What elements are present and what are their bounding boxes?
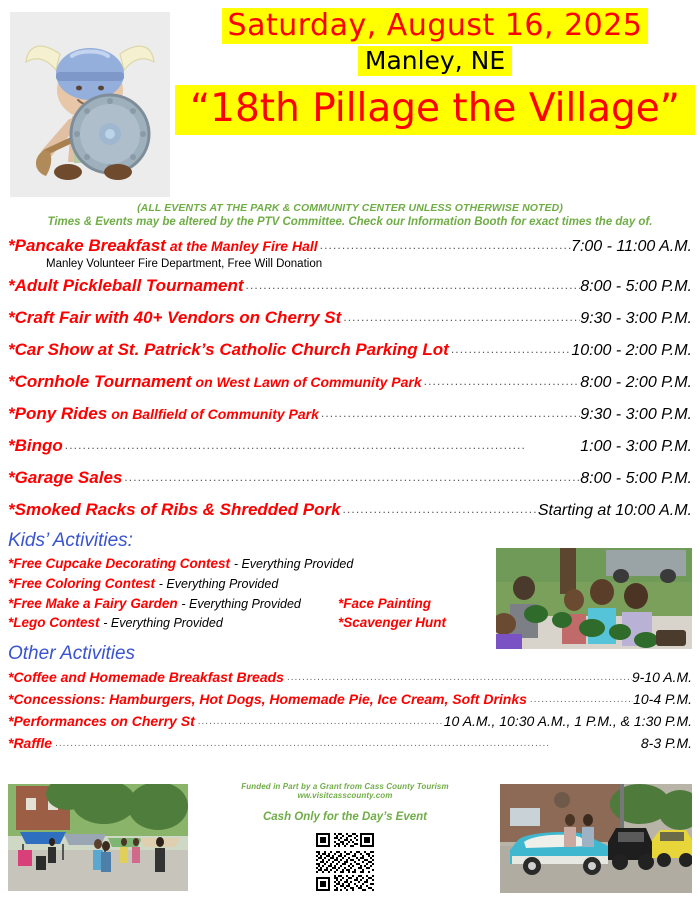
event-row: *Pancake Breakfast at the Manley Fire Ha… <box>8 236 692 256</box>
viking-mascot-icon <box>10 12 170 197</box>
leader-dots: ........................................… <box>341 310 580 324</box>
kids-fairy-garden-photo <box>496 548 692 649</box>
kids-activity-item: *Free Make a Fairy Garden - Everything P… <box>8 594 478 614</box>
leader-dots: ........................................… <box>52 738 641 749</box>
grant-credit: Funded in Part by a Grant from Cass Coun… <box>195 782 495 800</box>
event-time: 9:30 - 3:00 P.M. <box>580 310 692 328</box>
car-show-photo <box>500 784 692 893</box>
kids-photo-image <box>496 548 692 649</box>
other-activity-row: *Performances on Cherry St .............… <box>8 713 692 729</box>
other-activity-row: *Coffee and Homemade Breakfast Breads ..… <box>8 669 692 685</box>
event-time: Starting at 10:00 A.M. <box>538 502 692 520</box>
leader-dots: ........................................… <box>319 406 580 420</box>
event-qualifier: on West Lawn of Community Park <box>192 374 422 390</box>
cash-only-notice: Cash Only for the Day’s Event <box>195 811 495 823</box>
kids-activity-name: *Face Painting <box>338 594 478 614</box>
qr-code[interactable] <box>314 831 376 893</box>
kids-activities-section: *Free Cupcake Decorating Contest - Every… <box>8 554 692 633</box>
kids-activity-name: *Lego Contest <box>8 615 100 630</box>
event-name: *Car Show at St. Patrick’s Catholic Chur… <box>8 340 449 360</box>
event-name: *Craft Fair with 40+ Vendors on Cherry S… <box>8 308 341 328</box>
event-date: Saturday, August 16, 2025 <box>222 8 649 44</box>
event-name: *Pancake Breakfast <box>8 236 166 256</box>
event-time: 8:00 - 5:00 P.M. <box>580 278 692 296</box>
event-list: *Pancake Breakfast at the Manley Fire Ha… <box>8 236 692 520</box>
event-row: *Cornhole Tournament on West Lawn of Com… <box>8 372 692 392</box>
flyer-footer: Funded in Part by a Grant from Cass Coun… <box>0 780 700 906</box>
kids-activities-list: *Free Cupcake Decorating Contest - Every… <box>8 554 478 633</box>
event-time: 8:00 - 2:00 P.M. <box>580 374 692 392</box>
event-name: *Smoked Racks of Ribs & Shredded Pork <box>8 500 341 520</box>
event-time: 9:30 - 3:00 P.M. <box>580 406 692 424</box>
other-activity-time: 10 A.M., 10:30 A.M., 1 P.M., & 1:30 P.M. <box>444 713 692 729</box>
event-row: *Adult Pickleball Tournament ...........… <box>8 276 692 296</box>
viking-mascot-image <box>10 12 170 197</box>
event-row: *Bingo .................................… <box>8 436 692 456</box>
kids-activity-detail: - Everything Provided <box>234 557 354 571</box>
leader-dots: ........................................… <box>318 238 571 252</box>
event-time: 1:00 - 3:00 P.M. <box>580 438 692 456</box>
leader-dots: ........................................… <box>341 502 538 516</box>
other-activity-time: 10-4 P.M. <box>633 691 692 707</box>
event-name: *Adult Pickleball Tournament <box>8 276 244 296</box>
kids-activity-detail: - Everything Provided <box>181 597 301 611</box>
event-row: *Pony Rides on Ballfield of Community Pa… <box>8 404 692 424</box>
event-city: Manley, NE <box>358 46 512 76</box>
page-title: “18th Pillage the Village” <box>175 85 695 136</box>
kids-activity-item: *Lego Contest - Everything Provided *Sca… <box>8 613 478 633</box>
kids-activity-name: *Free Cupcake Decorating Contest <box>8 556 230 571</box>
event-qualifier: on Ballfield of Community Park <box>107 406 319 422</box>
leader-dots: ........................................… <box>63 438 580 452</box>
kids-activity-detail: - Everything Provided <box>103 616 223 630</box>
header-notes: (ALL EVENTS AT THE PARK & COMMUNITY CENT… <box>0 202 700 228</box>
kids-activity-name: *Scavenger Hunt <box>338 613 478 633</box>
header-text-block: Saturday, August 16, 2025 Manley, NE “18… <box>175 8 695 135</box>
event-qualifier: at the Manley Fire Hall <box>166 238 318 254</box>
other-activity-name: *Performances on Cherry St <box>8 713 195 729</box>
event-note: Manley Volunteer Fire Department, Free W… <box>46 258 692 270</box>
kids-activity-item: *Free Cupcake Decorating Contest - Every… <box>8 554 478 574</box>
other-activity-name: *Coffee and Homemade Breakfast Breads <box>8 669 284 685</box>
qr-code-icon <box>314 831 376 893</box>
leader-dots: ........................................… <box>195 716 444 727</box>
event-row: *Smoked Racks of Ribs & Shredded Pork ..… <box>8 500 692 520</box>
note-schedule-disclaimer: Times & Events may be altered by the PTV… <box>0 216 700 228</box>
kids-activity-item: *Free Coloring Contest - Everything Prov… <box>8 574 478 594</box>
other-activity-time: 9-10 A.M. <box>632 669 692 685</box>
kids-activity-name: *Free Make a Fairy Garden <box>8 596 178 611</box>
other-activities-list: *Coffee and Homemade Breakfast Breads ..… <box>8 669 692 751</box>
other-activity-row: *Raffle ................................… <box>8 735 692 751</box>
note-venue: (ALL EVENTS AT THE PARK & COMMUNITY CENT… <box>0 202 700 214</box>
kids-activity-name: *Free Coloring Contest <box>8 576 155 591</box>
event-time: 10:00 - 2:00 P.M. <box>571 342 692 360</box>
leader-dots: ........................................… <box>527 694 633 705</box>
footer-center-block: Funded in Part by a Grant from Cass Coun… <box>195 782 495 893</box>
other-activity-name: *Concessions: Hamburgers, Hot Dogs, Home… <box>8 691 527 707</box>
leader-dots: ........................................… <box>422 374 581 388</box>
leader-dots: ........................................… <box>122 470 580 484</box>
other-activity-row: *Concessions: Hamburgers, Hot Dogs, Home… <box>8 691 692 707</box>
event-row: *Craft Fair with 40+ Vendors on Cherry S… <box>8 308 692 328</box>
event-name: *Bingo <box>8 436 63 456</box>
other-activity-time: 8-3 P.M. <box>641 735 692 751</box>
street-fair-photo <box>8 784 188 891</box>
event-name: *Garage Sales <box>8 468 122 488</box>
car-show-image <box>500 784 692 893</box>
leader-dots: ........................................… <box>449 342 571 356</box>
other-activity-name: *Raffle <box>8 735 52 751</box>
event-name: *Pony Rides <box>8 404 107 424</box>
leader-dots: ........................................… <box>284 672 632 683</box>
flyer-header: Saturday, August 16, 2025 Manley, NE “18… <box>0 0 700 200</box>
event-name: *Cornhole Tournament <box>8 372 192 392</box>
kids-activity-detail: - Everything Provided <box>159 577 279 591</box>
street-fair-image <box>8 784 188 891</box>
event-time: 7:00 - 11:00 A.M. <box>571 238 692 256</box>
event-row: *Garage Sales ..........................… <box>8 468 692 488</box>
leader-dots: ........................................… <box>244 278 581 292</box>
event-row: *Car Show at St. Patrick’s Catholic Chur… <box>8 340 692 360</box>
event-time: 8:00 - 5:00 P.M. <box>580 470 692 488</box>
